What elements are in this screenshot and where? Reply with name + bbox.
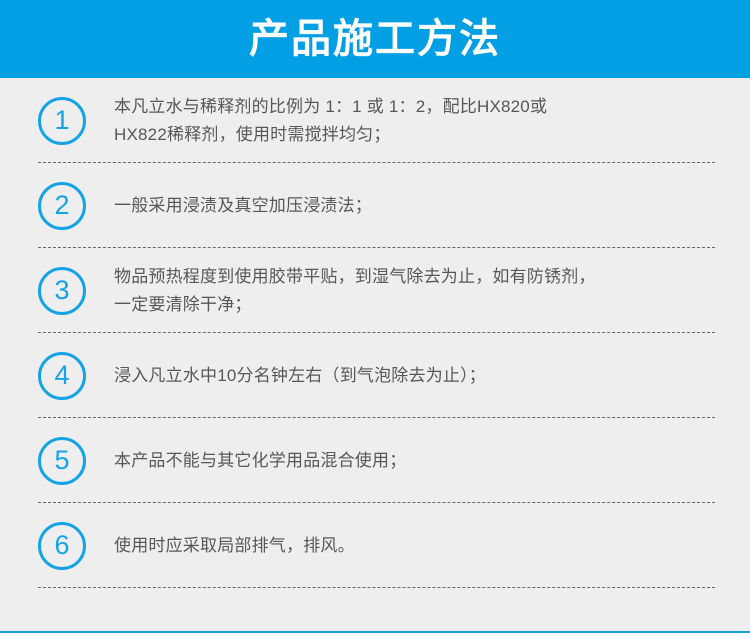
product-construction-method-page: 产品施工方法 1 本凡立水与稀释剂的比例为 1：1 或 1：2，配比HX820或…: [0, 0, 750, 633]
step-row: 1 本凡立水与稀释剂的比例为 1：1 或 1：2，配比HX820或 HX822稀…: [0, 78, 750, 163]
step-description: 浸入凡立水中10分名钟左右（到气泡除去为止）；: [114, 362, 715, 390]
step-description: 本产品不能与其它化学用品混合使用；: [114, 447, 715, 475]
step-description: 一般采用浸渍及真空加压浸渍法；: [114, 192, 715, 220]
step-number-badge: 4: [38, 352, 86, 400]
step-row: 5 本产品不能与其它化学用品混合使用；: [0, 418, 750, 503]
step-number-badge: 6: [38, 522, 86, 570]
step-description: 使用时应采取局部排气，排风。: [114, 532, 715, 560]
step-number-badge: 5: [38, 437, 86, 485]
step-description: 物品预热程度到使用胶带平贴，到湿气除去为止，如有防锈剂， 一定要清除干净；: [114, 263, 715, 319]
step-row: 2 一般采用浸渍及真空加压浸渍法；: [0, 163, 750, 248]
step-description: 本凡立水与稀释剂的比例为 1：1 或 1：2，配比HX820或 HX822稀释剂…: [114, 93, 715, 149]
page-header-banner: 产品施工方法: [0, 0, 750, 78]
step-number-badge: 2: [38, 182, 86, 230]
step-row: 6 使用时应采取局部排气，排风。: [0, 503, 750, 588]
page-title: 产品施工方法: [249, 19, 501, 59]
step-number-badge: 1: [38, 97, 86, 145]
construction-steps-list: 1 本凡立水与稀释剂的比例为 1：1 或 1：2，配比HX820或 HX822稀…: [0, 78, 750, 631]
step-number-badge: 3: [38, 267, 86, 315]
step-row: 4 浸入凡立水中10分名钟左右（到气泡除去为止）；: [0, 333, 750, 418]
step-row: 3 物品预热程度到使用胶带平贴，到湿气除去为止，如有防锈剂， 一定要清除干净；: [0, 248, 750, 333]
